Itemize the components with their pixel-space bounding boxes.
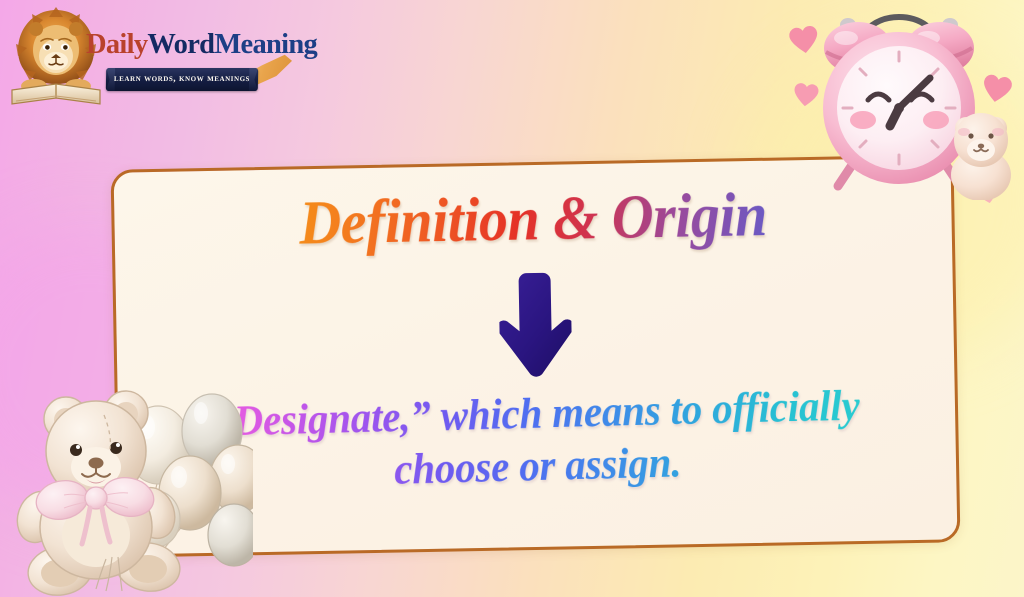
tagline-text: Learn Words, Know Meanings (106, 68, 258, 91)
teddy-bear-with-balloons-icon (8, 367, 253, 597)
brand-wordmark: DailyWordMeaning (86, 28, 286, 64)
down-arrow-icon (498, 268, 572, 381)
brand-daily: Daily (86, 29, 147, 60)
tagline-ribbon: Learn Words, Know Meanings (106, 68, 258, 91)
small-teddy-bear-icon (951, 113, 1011, 200)
site-logo[interactable]: DailyWordMeaning Learn Words, Know Meani… (8, 2, 286, 110)
kawaii-alarm-clock-icon (780, 0, 1018, 200)
brand-word: Word (147, 29, 214, 60)
brand-meaning: Meaning (214, 29, 317, 60)
definition-quote: “Designate,” which means to officially c… (157, 377, 916, 501)
slide-canvas: DailyWordMeaning Learn Words, Know Meani… (0, 0, 1024, 597)
